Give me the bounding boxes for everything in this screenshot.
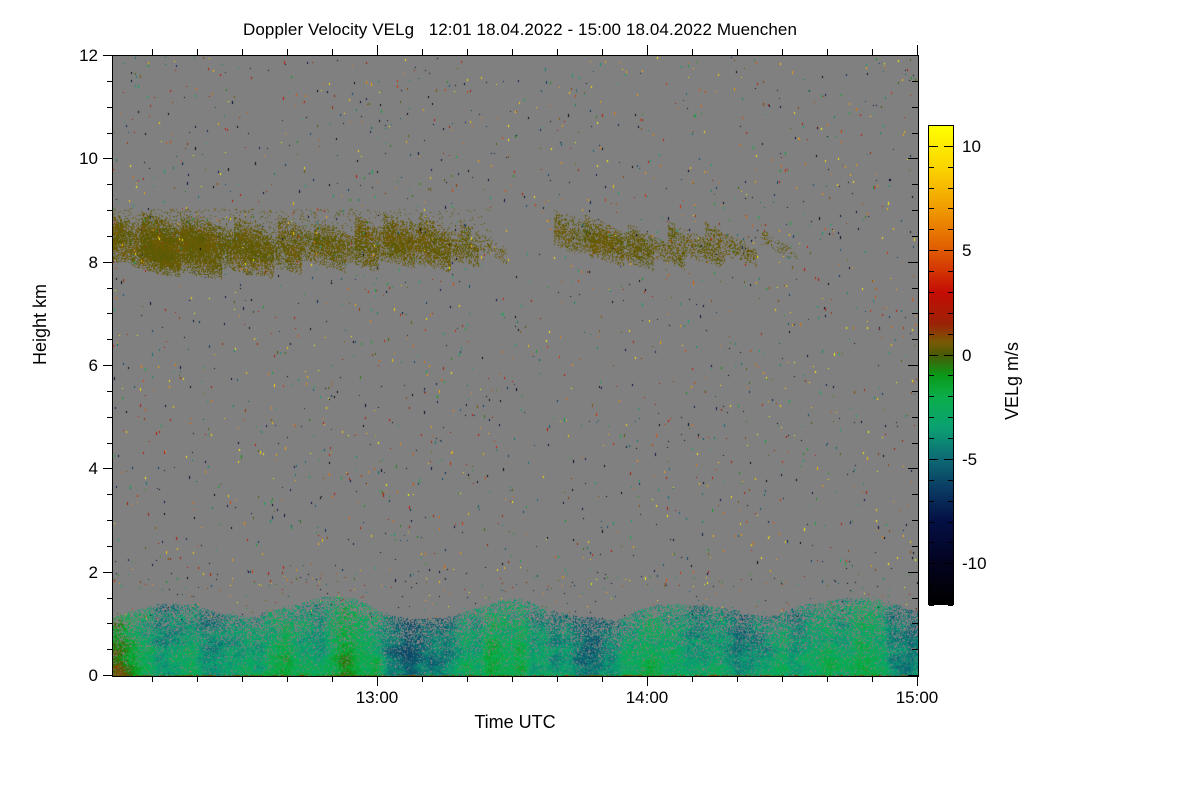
y-axis-major-tick: [908, 262, 918, 263]
colorbar-major-tick: [944, 250, 953, 251]
y-axis-minor-tick: [912, 391, 918, 392]
colorbar-minor-tick: [929, 522, 934, 523]
y-axis-major-tick: [103, 572, 113, 573]
y-axis-minor-tick: [912, 81, 918, 82]
x-axis-major-tick: [917, 45, 918, 55]
colorbar-minor-tick: [948, 501, 953, 502]
x-axis-minor-tick: [332, 49, 333, 55]
heatmap-canvas[interactable]: [113, 56, 918, 676]
colorbar-minor-tick: [929, 188, 934, 189]
x-axis-minor-tick: [242, 676, 243, 682]
colorbar-minor-tick: [929, 438, 934, 439]
colorbar-minor-tick: [929, 208, 934, 209]
y-axis-major-tick: [908, 55, 918, 56]
x-axis-tick-label: 14:00: [607, 689, 687, 706]
y-axis-minor-tick: [107, 391, 113, 392]
colorbar-minor-tick: [948, 125, 953, 126]
y-axis-minor-tick: [107, 81, 113, 82]
colorbar-minor-tick: [948, 292, 953, 293]
colorbar-major-tick: [944, 146, 953, 147]
colorbar-minor-tick: [948, 229, 953, 230]
y-axis-major-tick: [908, 572, 918, 573]
colorbar-gradient: [928, 125, 954, 605]
y-axis-minor-tick: [107, 236, 113, 237]
y-axis-tick-label: 10: [55, 150, 98, 167]
colorbar-minor-tick: [948, 522, 953, 523]
y-axis-minor-tick: [107, 443, 113, 444]
x-axis-minor-tick: [512, 676, 513, 682]
x-axis-minor-tick: [512, 49, 513, 55]
y-axis-minor-tick: [107, 520, 113, 521]
y-axis-major-tick: [103, 55, 113, 56]
colorbar-minor-tick: [948, 334, 953, 335]
x-axis-minor-tick: [602, 676, 603, 682]
colorbar-tick-label: -5: [962, 451, 977, 468]
colorbar-minor-tick: [929, 313, 934, 314]
y-axis-minor-tick: [107, 184, 113, 185]
colorbar-tick-label: 5: [962, 242, 971, 259]
x-axis-minor-tick: [287, 49, 288, 55]
y-axis-minor-tick: [912, 520, 918, 521]
y-axis-major-tick: [103, 365, 113, 366]
colorbar-minor-tick: [948, 438, 953, 439]
colorbar-major-tick: [929, 146, 938, 147]
x-axis-label: Time UTC: [112, 712, 918, 733]
y-axis-minor-tick: [912, 649, 918, 650]
y-axis-tick-label: 4: [55, 460, 98, 477]
colorbar-minor-tick: [929, 375, 934, 376]
x-axis-minor-tick: [737, 676, 738, 682]
y-axis-minor-tick: [107, 288, 113, 289]
y-axis-minor-tick: [912, 494, 918, 495]
colorbar-minor-tick: [948, 396, 953, 397]
y-axis-major-tick: [103, 675, 113, 676]
colorbar-minor-tick: [948, 480, 953, 481]
x-axis-minor-tick: [692, 676, 693, 682]
y-axis-minor-tick: [912, 133, 918, 134]
x-axis-minor-tick: [827, 676, 828, 682]
y-axis-minor-tick: [912, 546, 918, 547]
x-axis-minor-tick: [782, 49, 783, 55]
colorbar-label: VELg m/s: [1002, 342, 1023, 420]
colorbar-minor-tick: [948, 605, 953, 606]
y-axis-minor-tick: [107, 417, 113, 418]
colorbar-minor-tick: [929, 417, 934, 418]
y-axis-minor-tick: [912, 623, 918, 624]
colorbar-major-tick: [944, 355, 953, 356]
colorbar-major-tick: [944, 563, 953, 564]
x-axis-minor-tick: [467, 676, 468, 682]
x-axis-minor-tick: [332, 676, 333, 682]
x-axis-major-tick: [377, 676, 378, 686]
colorbar-minor-tick: [948, 375, 953, 376]
y-axis-minor-tick: [912, 236, 918, 237]
colorbar-major-tick: [929, 355, 938, 356]
y-axis-minor-tick: [912, 184, 918, 185]
x-axis-major-tick: [647, 676, 648, 686]
y-axis-minor-tick: [912, 107, 918, 108]
colorbar-minor-tick: [929, 292, 934, 293]
y-axis-minor-tick: [107, 598, 113, 599]
colorbar-minor-tick: [948, 188, 953, 189]
colorbar-tick-label: -10: [962, 555, 987, 572]
x-axis-minor-tick: [557, 49, 558, 55]
x-axis-minor-tick: [737, 49, 738, 55]
x-axis-tick-label: 13:00: [337, 689, 417, 706]
y-axis-minor-tick: [912, 339, 918, 340]
x-axis-major-tick: [647, 45, 648, 55]
x-axis-minor-tick: [152, 676, 153, 682]
x-axis-minor-tick: [692, 49, 693, 55]
x-axis-minor-tick: [242, 49, 243, 55]
x-axis-major-tick: [917, 676, 918, 686]
colorbar-minor-tick: [929, 271, 934, 272]
y-axis-tick-label: 2: [55, 564, 98, 581]
colorbar-major-tick: [929, 459, 938, 460]
colorbar-minor-tick: [929, 125, 934, 126]
x-axis-minor-tick: [152, 49, 153, 55]
x-axis-minor-tick: [467, 49, 468, 55]
y-axis-minor-tick: [107, 210, 113, 211]
y-axis-major-tick: [103, 158, 113, 159]
x-axis-minor-tick: [782, 676, 783, 682]
y-axis-minor-tick: [912, 417, 918, 418]
y-axis-minor-tick: [912, 443, 918, 444]
y-axis-minor-tick: [107, 546, 113, 547]
colorbar-minor-tick: [948, 584, 953, 585]
colorbar-minor-tick: [929, 334, 934, 335]
x-axis-minor-tick: [872, 49, 873, 55]
y-axis-major-tick: [103, 262, 113, 263]
colorbar-minor-tick: [948, 542, 953, 543]
y-axis-major-tick: [908, 365, 918, 366]
y-axis-major-tick: [908, 468, 918, 469]
x-axis-minor-tick: [557, 676, 558, 682]
y-axis-minor-tick: [912, 598, 918, 599]
x-axis-major-tick: [377, 45, 378, 55]
colorbar-minor-tick: [929, 229, 934, 230]
x-axis-minor-tick: [827, 49, 828, 55]
doppler-velocity-figure: Doppler Velocity VELg 12:01 18.04.2022 -…: [0, 0, 1200, 800]
radar-heatmap-plot-area[interactable]: [112, 55, 919, 677]
y-axis-minor-tick: [912, 210, 918, 211]
y-axis-tick-label: 12: [55, 47, 98, 64]
colorbar-tick-label: 0: [962, 347, 971, 364]
y-axis-minor-tick: [912, 288, 918, 289]
x-axis-minor-tick: [197, 676, 198, 682]
x-axis-minor-tick: [422, 676, 423, 682]
colorbar-minor-tick: [948, 167, 953, 168]
y-axis-major-tick: [103, 468, 113, 469]
colorbar-minor-tick: [948, 313, 953, 314]
x-axis-minor-tick: [422, 49, 423, 55]
colorbar-minor-tick: [948, 417, 953, 418]
x-axis-minor-tick: [287, 676, 288, 682]
x-axis-minor-tick: [602, 49, 603, 55]
x-axis-minor-tick: [197, 49, 198, 55]
y-axis-minor-tick: [107, 339, 113, 340]
y-axis-minor-tick: [107, 649, 113, 650]
colorbar-minor-tick: [929, 605, 934, 606]
y-axis-minor-tick: [107, 494, 113, 495]
y-axis-tick-label: 8: [55, 254, 98, 271]
colorbar-major-tick: [929, 250, 938, 251]
y-axis-minor-tick: [107, 313, 113, 314]
colorbar-minor-tick: [948, 208, 953, 209]
colorbar-minor-tick: [948, 271, 953, 272]
colorbar[interactable]: [928, 125, 954, 605]
y-axis-minor-tick: [912, 313, 918, 314]
colorbar-minor-tick: [929, 584, 934, 585]
y-axis-major-tick: [908, 158, 918, 159]
y-axis-tick-label: 0: [55, 667, 98, 684]
colorbar-minor-tick: [929, 542, 934, 543]
y-axis-minor-tick: [107, 107, 113, 108]
colorbar-minor-tick: [929, 480, 934, 481]
colorbar-major-tick: [929, 563, 938, 564]
page-title: Doppler Velocity VELg 12:01 18.04.2022 -…: [0, 20, 1040, 40]
colorbar-minor-tick: [929, 501, 934, 502]
x-axis-tick-label: 15:00: [877, 689, 957, 706]
y-axis-minor-tick: [107, 623, 113, 624]
colorbar-tick-label: 10: [962, 138, 981, 155]
y-axis-tick-label: 6: [55, 357, 98, 374]
colorbar-minor-tick: [929, 167, 934, 168]
colorbar-major-tick: [944, 459, 953, 460]
y-axis-minor-tick: [107, 133, 113, 134]
x-axis-minor-tick: [872, 676, 873, 682]
colorbar-minor-tick: [929, 396, 934, 397]
y-axis-label: Height km: [30, 284, 51, 365]
